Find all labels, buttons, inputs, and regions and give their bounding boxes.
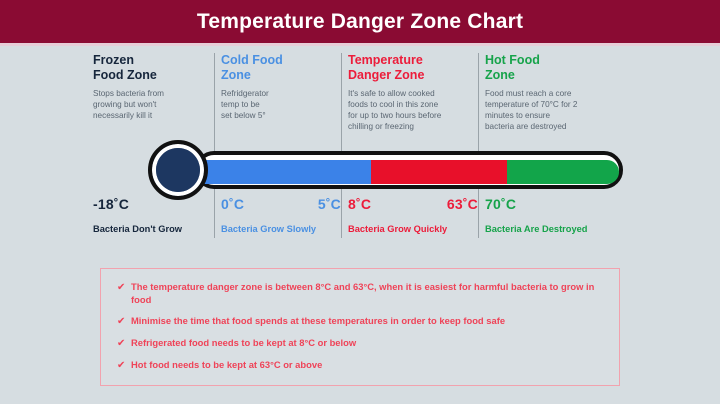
thermometer-fill xyxy=(199,160,619,184)
check-icon: ✔ xyxy=(117,337,131,350)
zone-description-hot: Food must reach a core temperature of 70… xyxy=(485,88,627,132)
zone-title-hot: Hot Food Zone xyxy=(485,53,627,83)
key-point-text: Hot food needs to be kept at 63°C or abo… xyxy=(131,359,322,372)
zone-caption-cold: Bacteria Grow Slowly xyxy=(221,224,341,234)
key-points-box: ✔ The temperature danger zone is between… xyxy=(100,268,620,386)
list-item: ✔ Hot food needs to be kept at 63°C or a… xyxy=(117,359,603,372)
header-underline xyxy=(0,43,720,46)
key-point-text: Refrigerated food needs to be kept at 8°… xyxy=(131,337,356,350)
list-item: ✔ The temperature danger zone is between… xyxy=(117,281,603,306)
key-point-text: Minimise the time that food spends at th… xyxy=(131,315,505,328)
zone-caption-hot: Bacteria Are Destroyed xyxy=(485,224,627,234)
check-icon: ✔ xyxy=(117,359,131,372)
thermometer-segment-hot xyxy=(507,160,619,184)
zone-description-cold: Refridgerator temp to be set below 5° xyxy=(221,88,341,121)
zone-description-danger: It's safe to allow cooked foods to cool … xyxy=(348,88,478,132)
check-icon: ✔ xyxy=(117,281,131,294)
zone-caption-frozen: Bacteria Don't Grow xyxy=(93,224,214,234)
key-point-text: The temperature danger zone is between 8… xyxy=(131,281,601,306)
zone-caption-danger: Bacteria Grow Quickly xyxy=(348,224,478,234)
thermometer-bulb-icon xyxy=(148,140,208,200)
thermometer-bulb-inner xyxy=(156,148,200,192)
list-item: ✔ Minimise the time that food spends at … xyxy=(117,315,603,328)
zone-temp-low-frozen: -18˚C xyxy=(93,196,129,212)
zone-title-danger: Temperature Danger Zone xyxy=(348,53,478,83)
zone-description-frozen: Stops bacteria from growing but won't ne… xyxy=(93,88,214,121)
list-item: ✔ Refrigerated food needs to be kept at … xyxy=(117,337,603,350)
poster-header: Temperature Danger Zone Chart xyxy=(0,0,720,43)
page-title: Temperature Danger Zone Chart xyxy=(197,10,523,34)
thermometer-segment-cold xyxy=(199,160,371,184)
thermometer-tube xyxy=(195,151,623,189)
thermometer-graphic xyxy=(148,140,628,200)
temperature-danger-zone-poster: Temperature Danger Zone Chart Frozen Foo… xyxy=(0,0,720,404)
zone-title-cold: Cold Food Zone xyxy=(221,53,341,83)
check-icon: ✔ xyxy=(117,315,131,328)
zone-title-frozen: Frozen Food Zone xyxy=(93,53,214,83)
thermometer-segment-danger xyxy=(371,160,507,184)
